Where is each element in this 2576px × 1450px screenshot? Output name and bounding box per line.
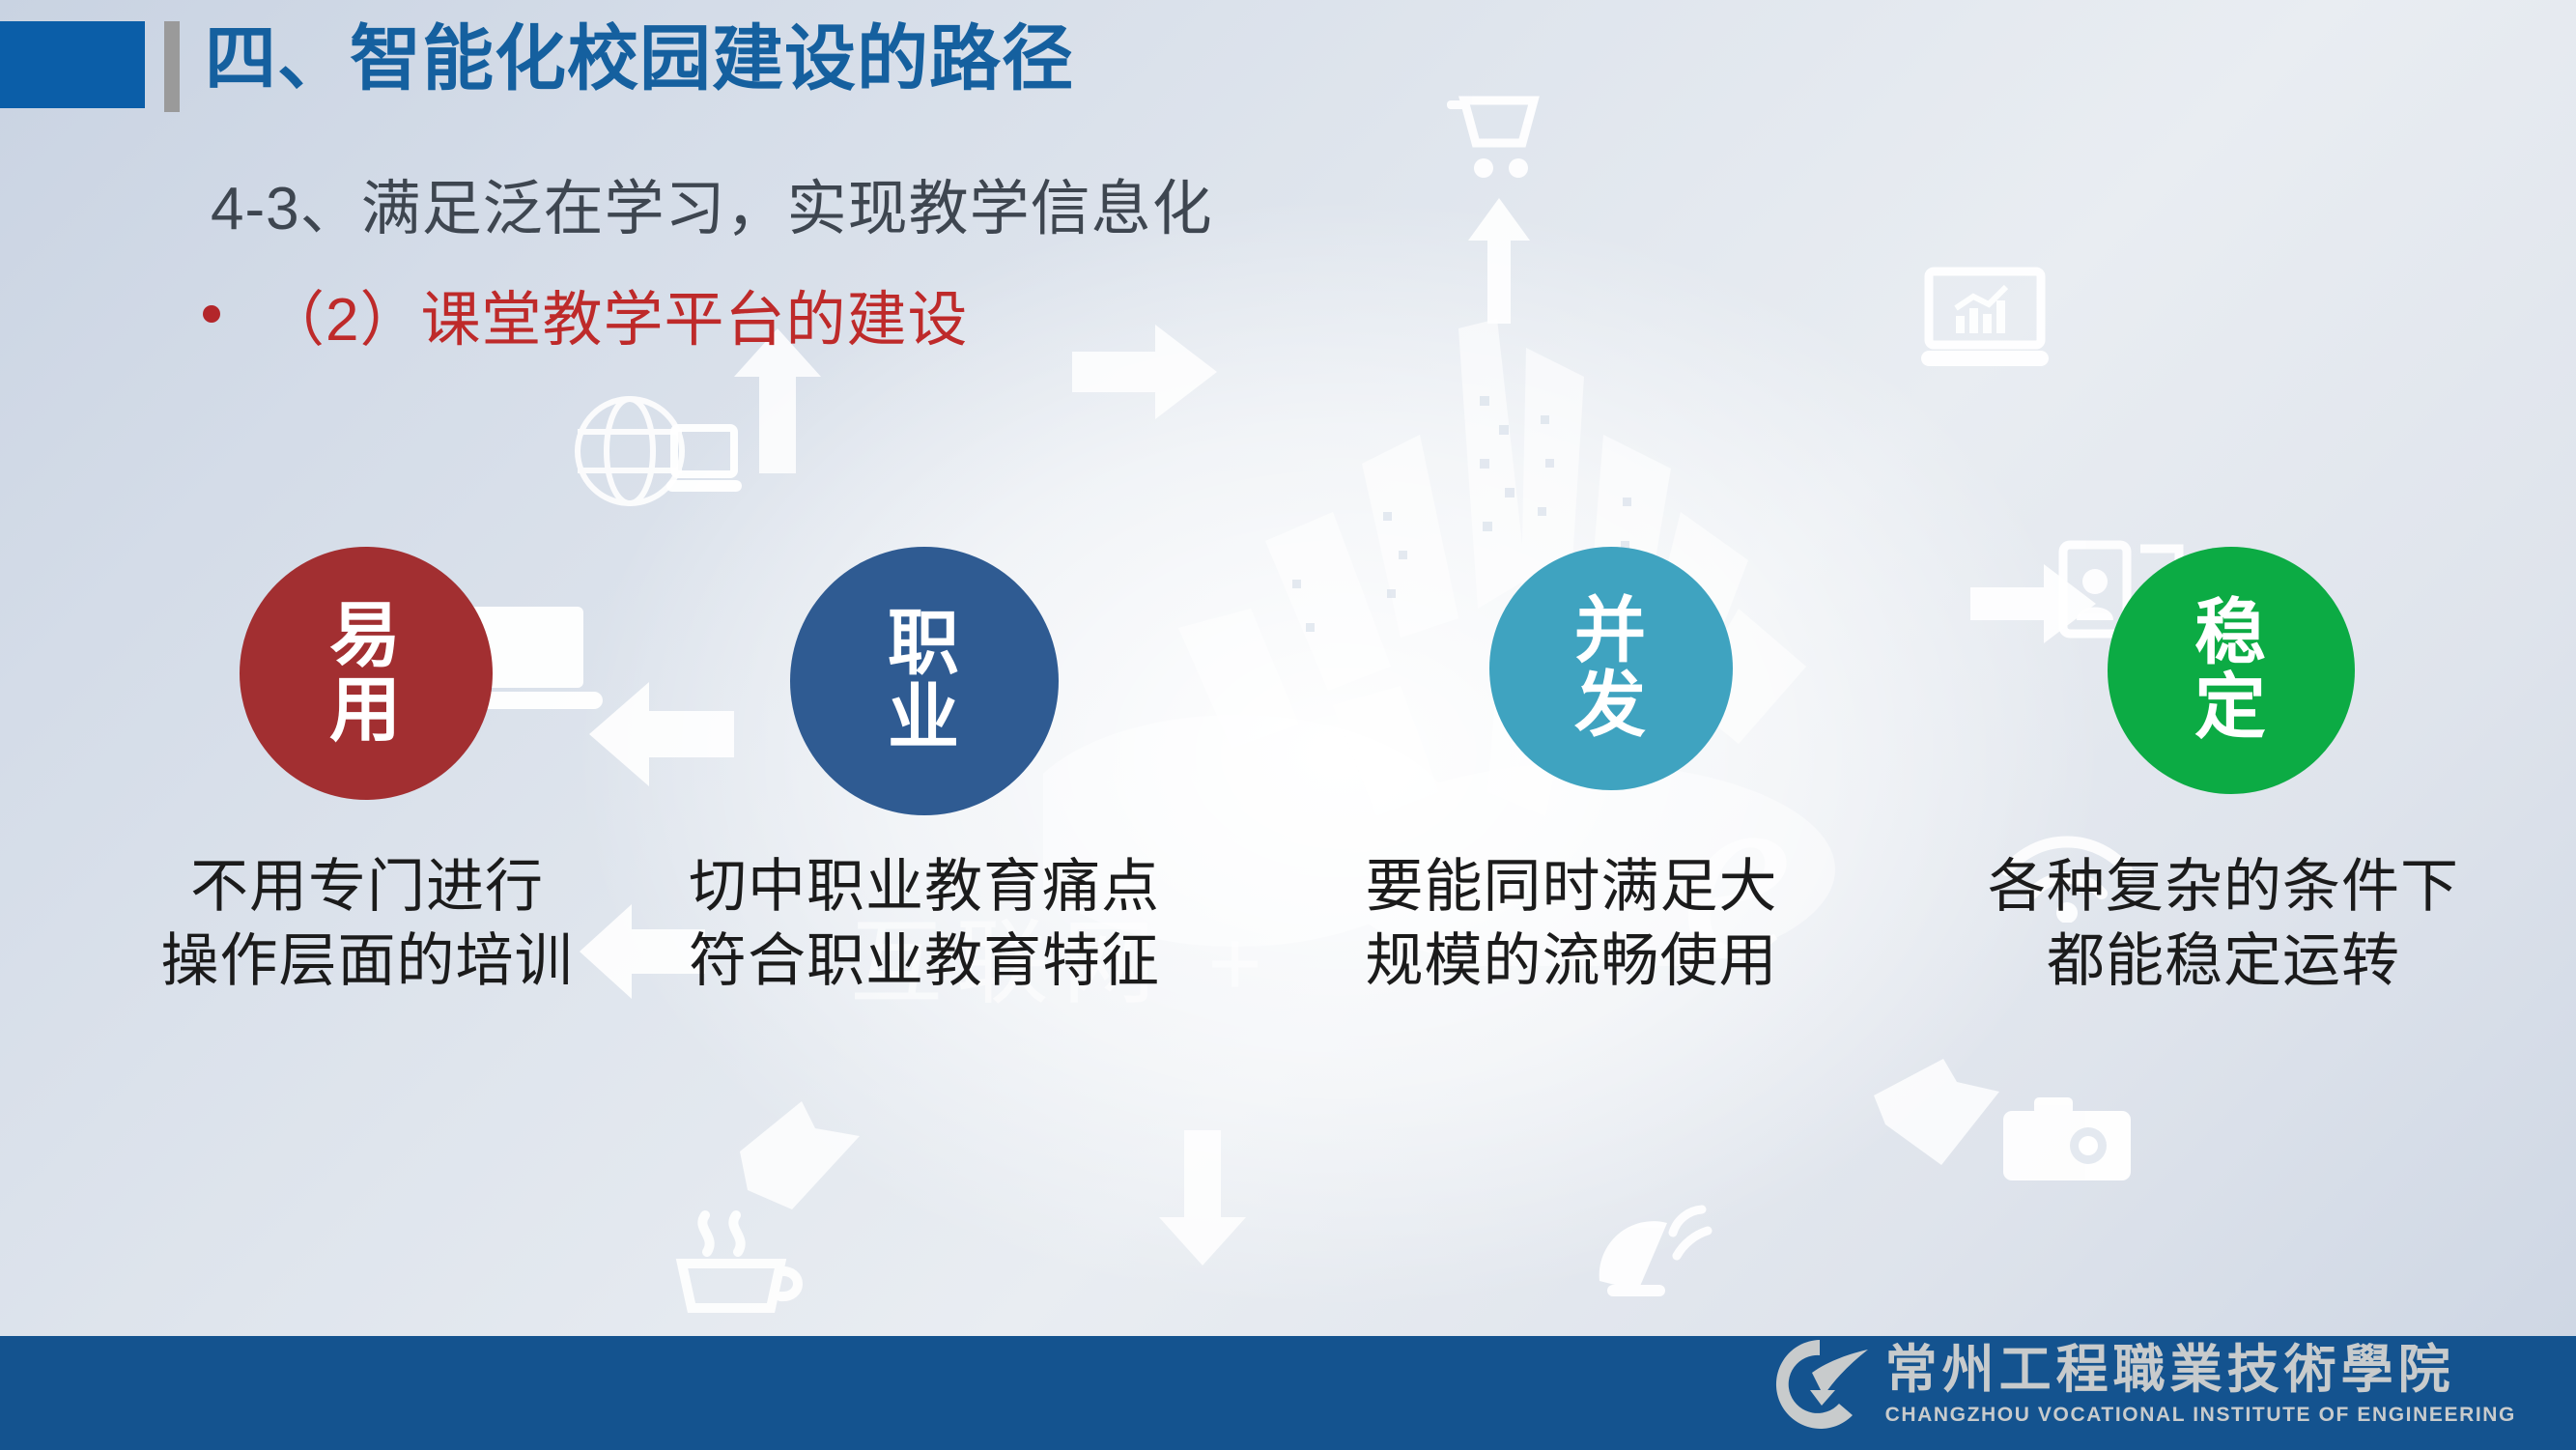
pillar-badge-3: 并 发	[1489, 547, 1733, 790]
bullet-label: （2）课堂教学平台的建设	[265, 270, 968, 357]
pillar-caption-3-line1: 要能同时满足大	[1325, 850, 1818, 924]
pillar-caption-3: 要能同时满足大 规模的流畅使用	[1325, 850, 1818, 999]
arrow-icon	[1159, 1130, 1246, 1265]
pillar-caption-1-line1: 不用专门进行	[116, 850, 618, 924]
pillar-badge-1-top: 易	[329, 599, 403, 673]
satellite-dish-icon	[1584, 1188, 1719, 1304]
arrow-icon	[1970, 560, 2096, 647]
pillar-caption-4: 各种复杂的条件下 都能稳定运转	[1953, 850, 2494, 999]
pillar-badge-4: 稳 定	[2108, 547, 2355, 794]
institution-logo: 常州工程職業技術學院 CHANGZHOU VOCATIONAL INSTITUT…	[1768, 1332, 2516, 1436]
pillar-caption-1: 不用专门进行 操作层面的培训	[116, 850, 618, 999]
pillar-caption-2: 切中职业教育痛点 符合职业教育特征	[649, 850, 1200, 999]
page-title: 四、智能化校园建设的路径	[205, 17, 1074, 100]
pillar-caption-1-line2: 操作层面的培训	[116, 924, 618, 999]
bullet-row: （2）课堂教学平台的建设	[203, 270, 968, 357]
pillar-badge-2: 职 业	[790, 547, 1059, 815]
arrow-icon	[734, 1101, 860, 1217]
institution-name-block: 常州工程職業技術學院 CHANGZHOU VOCATIONAL INSTITUT…	[1885, 1344, 2516, 1425]
footer-bar: 常州工程職業技術學院 CHANGZHOU VOCATIONAL INSTITUT…	[0, 1336, 2576, 1450]
pillar-caption-4-line1: 各种复杂的条件下	[1953, 850, 2494, 924]
pillar-badge-4-bottom: 定	[2194, 670, 2268, 745]
bullet-dot-icon	[203, 305, 220, 323]
pillar-badge-3-top: 并	[1574, 594, 1648, 668]
arrow-icon	[1468, 198, 1530, 324]
arrow-icon	[1072, 319, 1217, 425]
title-accent-block	[0, 21, 145, 108]
arrow-icon	[1874, 1053, 1999, 1169]
pillar-badge-4-top: 稳	[2194, 596, 2268, 670]
camera-icon	[1999, 1092, 2135, 1188]
pillar-caption-2-line1: 切中职业教育痛点	[649, 850, 1200, 924]
pillar-badge-3-bottom: 发	[1574, 668, 1648, 743]
slide-canvas: e 互联网 +	[0, 0, 2576, 1450]
arrow-icon	[589, 676, 734, 792]
pillar-caption-4-line2: 都能稳定运转	[1953, 924, 2494, 999]
institution-emblem-icon	[1768, 1332, 1872, 1436]
pillar-caption-2-line2: 符合职业教育特征	[649, 924, 1200, 999]
title-divider-bar	[164, 21, 180, 112]
institution-name-en: CHANGZHOU VOCATIONAL INSTITUTE OF ENGINE…	[1885, 1405, 2516, 1425]
globe-computer-icon	[570, 391, 744, 517]
institution-name-cn: 常州工程職業技術學院	[1885, 1344, 2516, 1396]
pillar-badge-1-bottom: 用	[329, 673, 403, 748]
laptop-chart-icon	[1917, 266, 2052, 372]
shopping-cart-icon	[1439, 87, 1545, 184]
pillar-badge-2-bottom: 业	[888, 681, 961, 755]
pillar-badge-2-top: 职	[888, 607, 961, 681]
pillar-badge-1: 易 用	[240, 547, 493, 800]
slide-subtitle: 4-3、满足泛在学习，实现教学信息化	[211, 159, 1213, 246]
coffee-cup-icon	[666, 1208, 811, 1323]
pillar-caption-3-line2: 规模的流畅使用	[1325, 924, 1818, 999]
